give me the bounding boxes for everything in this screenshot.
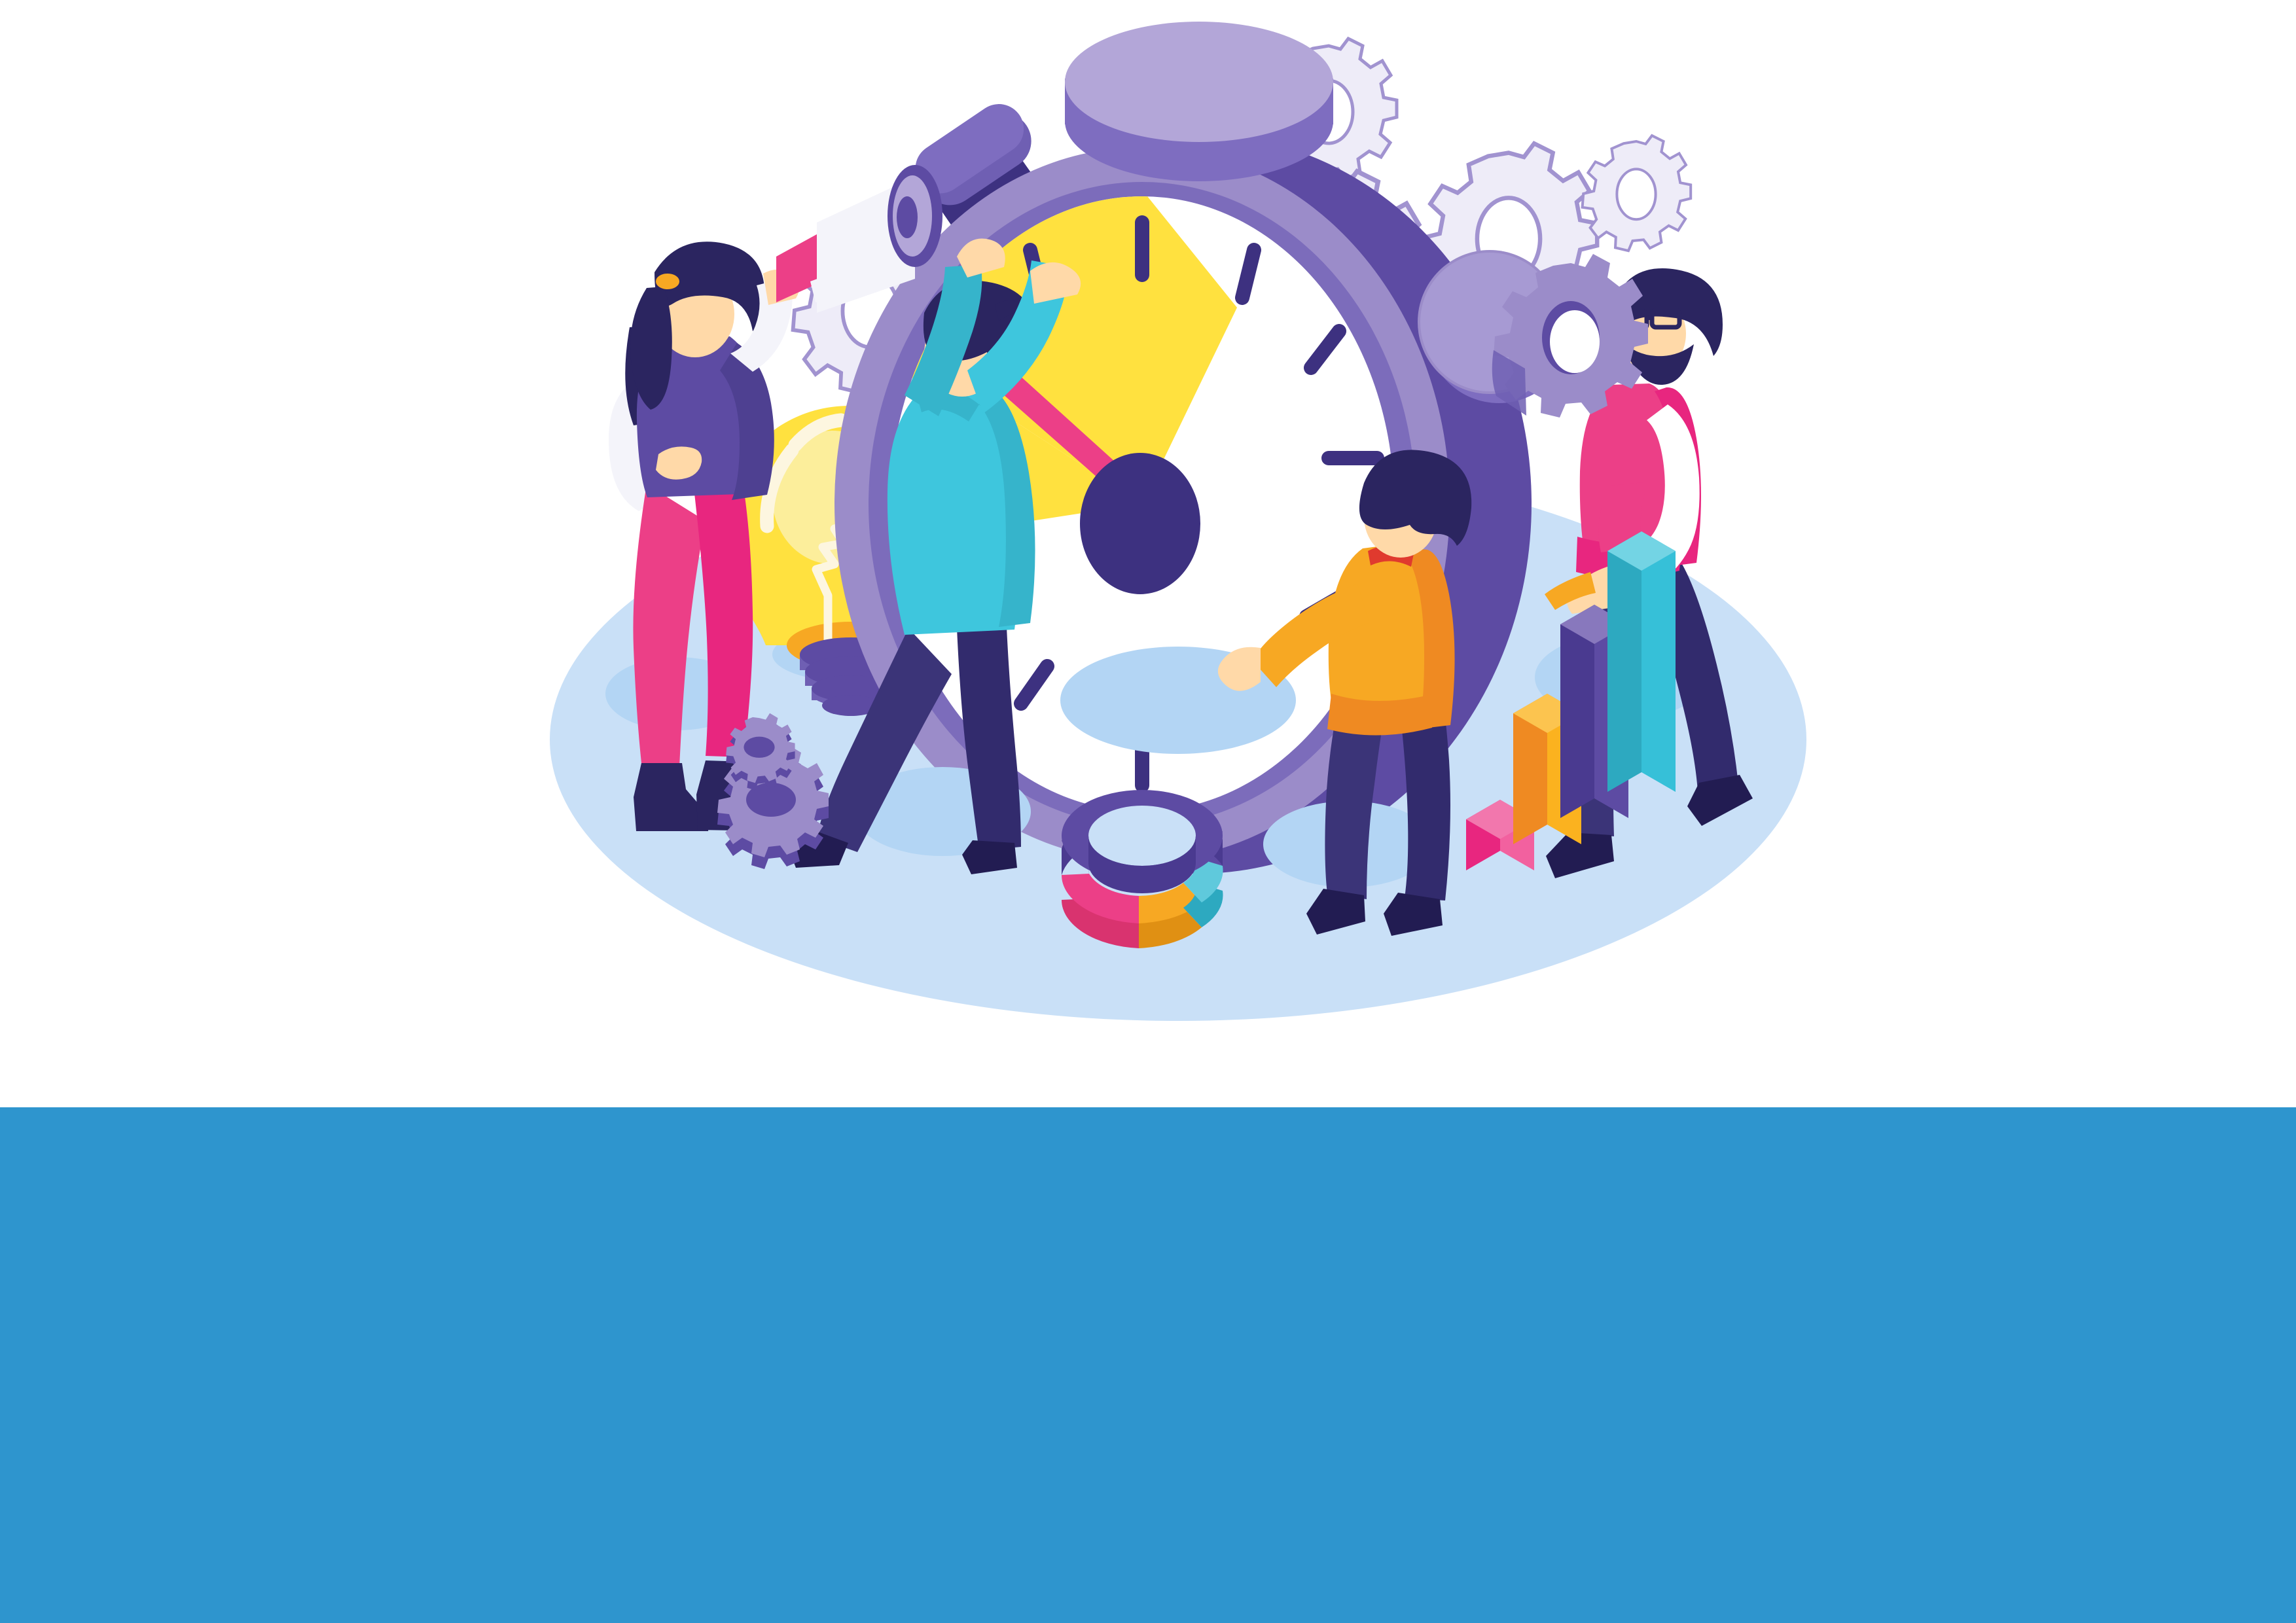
slide-root: ¿POR QUÉ ES TAN IMPORTANTE LA EFICIENCIA… bbox=[0, 0, 2296, 1623]
stopwatch-crown bbox=[1065, 22, 1333, 181]
caption-band: ¿POR QUÉ ES TAN IMPORTANTE LA EFICIENCIA… bbox=[0, 1107, 2296, 1623]
hero-illustration bbox=[0, 0, 2296, 1107]
illustration-svg bbox=[0, 0, 2296, 1107]
bar-4 bbox=[1607, 531, 1676, 792]
